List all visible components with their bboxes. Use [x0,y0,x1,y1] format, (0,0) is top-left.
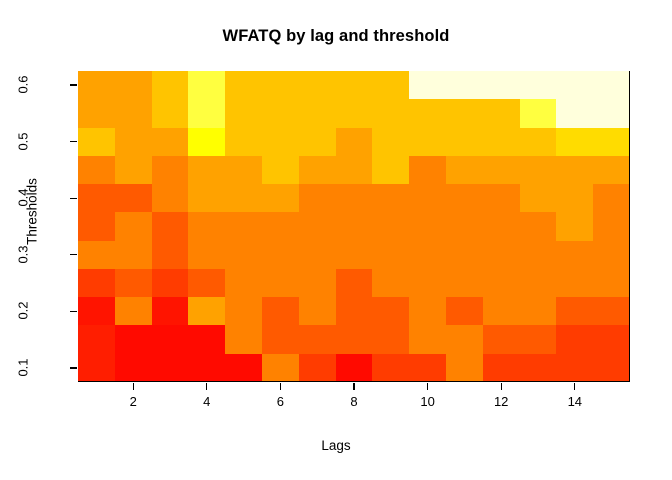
heatmap-cell [409,99,446,127]
heatmap-cell [78,354,115,382]
heatmap-cell [483,269,520,297]
heatmap-cell [225,354,262,382]
x-tick-label: 2 [113,394,153,409]
heatmap-cell [115,71,152,99]
heatmap-cell [372,269,409,297]
heatmap-cell [446,71,483,99]
heatmap-cell [225,71,262,99]
y-tick-label: 0.6 [16,55,31,115]
heatmap-cell [372,241,409,269]
heatmap-cell [78,212,115,240]
heatmap-cell [520,241,557,269]
x-tick-label: 14 [555,394,595,409]
heatmap-cell [483,99,520,127]
x-tick-mark [133,383,134,390]
heatmap-cell [115,156,152,184]
x-tick-label: 6 [260,394,300,409]
heatmap-cell [556,212,593,240]
heatmap-cell [593,212,630,240]
heatmap-cell [115,297,152,325]
heatmap-cell [336,212,373,240]
heatmap-cell [336,71,373,99]
heatmap-cell [152,184,189,212]
heatmap-cell [520,297,557,325]
heatmap-cell [78,297,115,325]
heatmap-cell [556,325,593,353]
y-tick-mark [70,84,77,85]
heatmap-cell [152,128,189,156]
heatmap-cell [188,128,225,156]
heatmap-cell [225,128,262,156]
heatmap-cell [188,156,225,184]
heatmap-cell [336,156,373,184]
heatmap-cell [446,184,483,212]
heatmap-cell [446,156,483,184]
heatmap-cell [152,297,189,325]
heatmap-cell [78,269,115,297]
heatmap-cell [115,354,152,382]
heatmap-cell [152,212,189,240]
heatmap-cell [556,128,593,156]
heatmap-cell [78,184,115,212]
heatmap-cell [520,156,557,184]
heatmap-cell [336,269,373,297]
heatmap-cell [262,297,299,325]
heatmap-cell [336,241,373,269]
heatmap-cell [556,156,593,184]
heatmap-cell [262,156,299,184]
heatmap-cell [556,241,593,269]
heatmap-cell [336,184,373,212]
heatmap-cell [483,241,520,269]
heatmap-cell [446,241,483,269]
heatmap-cell [188,241,225,269]
heatmap-cell [520,128,557,156]
heatmap-cell [299,128,336,156]
heatmap-cell [262,354,299,382]
x-tick-label: 12 [481,394,521,409]
x-tick-mark [206,383,207,390]
heatmap-grid [78,71,630,382]
heatmap-cell [188,212,225,240]
heatmap-cell [520,99,557,127]
heatmap-cell [299,212,336,240]
heatmap-cell [225,212,262,240]
heatmap-cell [409,241,446,269]
heatmap-cell [152,99,189,127]
heatmap-cell [372,297,409,325]
heatmap-cell [520,184,557,212]
heatmap-cell [299,241,336,269]
heatmap-cell [299,354,336,382]
x-tick-mark [427,383,428,390]
heatmap-cell [520,269,557,297]
heatmap-cell [593,184,630,212]
heatmap-cell [336,325,373,353]
heatmap-cell [446,128,483,156]
heatmap-cell [520,325,557,353]
heatmap-cell [188,325,225,353]
heatmap-cell [483,297,520,325]
heatmap-cell [262,128,299,156]
heatmap-cell [115,325,152,353]
heatmap-cell [78,71,115,99]
x-tick-mark [353,383,354,390]
heatmap-cell [299,325,336,353]
heatmap-cell [78,325,115,353]
heatmap-cell [556,269,593,297]
heatmap-cell [593,325,630,353]
heatmap-cell [409,184,446,212]
heatmap-cell [188,99,225,127]
heatmap-cell [409,325,446,353]
heatmap-cell [225,269,262,297]
heatmap-cell [225,241,262,269]
heatmap-cell [520,212,557,240]
heatmap-cell [483,71,520,99]
heatmap-cell [409,354,446,382]
heatmap-cell [262,269,299,297]
y-tick-label: 0.3 [16,224,31,284]
heatmap-cell [262,325,299,353]
heatmap-cell [115,184,152,212]
heatmap-cell [372,99,409,127]
x-tick-mark [501,383,502,390]
heatmap-cell [336,128,373,156]
heatmap-cell [409,297,446,325]
heatmap-cell [409,212,446,240]
y-tick-mark [70,367,77,368]
heatmap-cell [372,325,409,353]
heatmap-cell [446,269,483,297]
heatmap-cell [152,325,189,353]
y-tick-label: 0.1 [16,337,31,397]
heatmap-cell [446,99,483,127]
heatmap-cell [225,184,262,212]
heatmap-cell [593,71,630,99]
heatmap-cell [409,128,446,156]
heatmap-cell [593,297,630,325]
y-tick-label: 0.5 [16,111,31,171]
y-tick-mark [70,311,77,312]
y-tick-mark [70,141,77,142]
heatmap-figure: WFATQ by lag and threshold Thresholds La… [0,0,672,480]
heatmap-cell [483,325,520,353]
x-tick-mark [574,383,575,390]
heatmap-cell [556,71,593,99]
heatmap-cell [409,71,446,99]
x-tick-label: 8 [334,394,374,409]
y-tick-label: 0.2 [16,281,31,341]
plot-area [78,71,630,382]
heatmap-cell [262,184,299,212]
heatmap-cell [152,269,189,297]
heatmap-cell [483,354,520,382]
heatmap-cell [520,71,557,99]
heatmap-cell [372,184,409,212]
heatmap-cell [225,99,262,127]
heatmap-cell [336,297,373,325]
page-title: WFATQ by lag and threshold [0,27,672,46]
heatmap-cell [262,241,299,269]
heatmap-cell [262,99,299,127]
heatmap-cell [593,354,630,382]
heatmap-cell [372,156,409,184]
heatmap-cell [152,156,189,184]
heatmap-cell [115,212,152,240]
heatmap-cell [299,71,336,99]
heatmap-cell [299,297,336,325]
heatmap-cell [188,269,225,297]
heatmap-cell [115,128,152,156]
heatmap-cell [115,269,152,297]
heatmap-cell [483,156,520,184]
heatmap-cell [593,156,630,184]
heatmap-cell [299,156,336,184]
heatmap-cell [446,297,483,325]
x-axis-title: Lags [0,438,672,453]
heatmap-cell [556,99,593,127]
x-tick-label: 4 [187,394,227,409]
heatmap-cell [152,241,189,269]
heatmap-cell [78,99,115,127]
heatmap-cell [188,297,225,325]
heatmap-cell [483,184,520,212]
heatmap-cell [152,354,189,382]
heatmap-cell [520,354,557,382]
heatmap-cell [262,71,299,99]
x-tick-label: 10 [408,394,448,409]
y-tick-mark [70,198,77,199]
heatmap-cell [78,156,115,184]
heatmap-cell [372,354,409,382]
heatmap-cell [593,241,630,269]
heatmap-cell [409,269,446,297]
y-tick-label: 0.4 [16,168,31,228]
heatmap-cell [115,241,152,269]
heatmap-cell [593,269,630,297]
heatmap-cell [78,128,115,156]
heatmap-cell [593,99,630,127]
heatmap-cell [556,297,593,325]
heatmap-cell [483,212,520,240]
heatmap-cell [483,128,520,156]
heatmap-cell [225,297,262,325]
heatmap-cell [446,354,483,382]
heatmap-cell [188,354,225,382]
heatmap-cell [188,71,225,99]
y-tick-mark [70,254,77,255]
heatmap-cell [299,99,336,127]
heatmap-cell [115,99,152,127]
heatmap-cell [446,212,483,240]
heatmap-cell [299,184,336,212]
heatmap-cell [372,128,409,156]
heatmap-cell [556,354,593,382]
heatmap-cell [409,156,446,184]
heatmap-cell [225,156,262,184]
heatmap-cell [336,99,373,127]
heatmap-cell [188,184,225,212]
heatmap-cell [78,241,115,269]
heatmap-cell [225,325,262,353]
heatmap-cell [593,128,630,156]
heatmap-cell [372,71,409,99]
heatmap-cell [336,354,373,382]
x-tick-mark [280,383,281,390]
heatmap-cell [446,325,483,353]
heatmap-cell [556,184,593,212]
heatmap-cell [299,269,336,297]
heatmap-cell [372,212,409,240]
heatmap-cell [152,71,189,99]
heatmap-cell [262,212,299,240]
